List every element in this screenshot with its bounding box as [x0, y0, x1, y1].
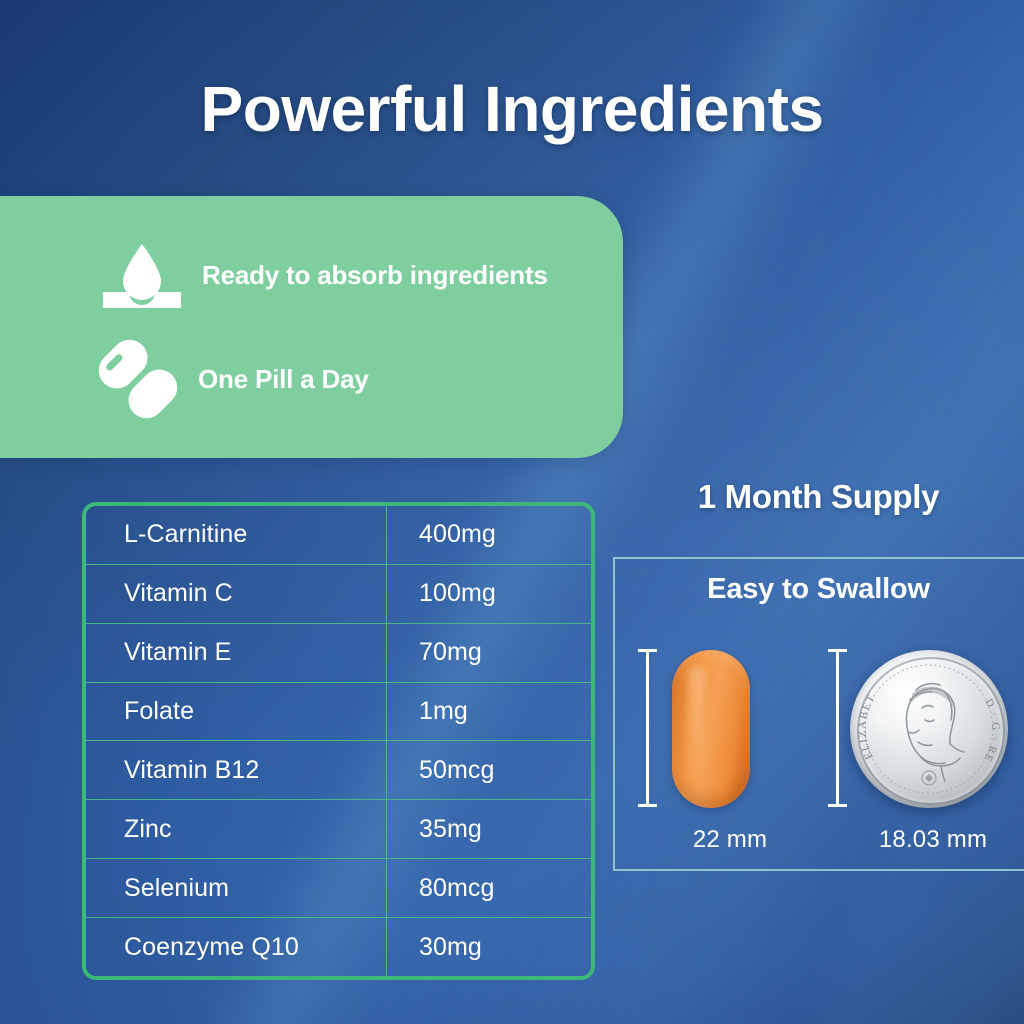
- ingredient-name: L-Carnitine: [86, 506, 387, 564]
- ingredient-amount: 400mg: [387, 506, 592, 564]
- coin-specimen: ELIZABETH II D · G · REGINA 18.03 mm: [820, 640, 1020, 870]
- ingredient-amount: 35mg: [387, 800, 592, 859]
- coin-engraving: ELIZABETH II D · G · REGINA: [850, 650, 1008, 808]
- ingredient-amount: 70mg: [387, 623, 592, 682]
- feature-item-ready-to-absorb: Ready to absorb ingredients: [96, 232, 548, 318]
- ingredient-name: Vitamin B12: [86, 741, 387, 800]
- feature-item-one-pill-a-day: One Pill a Day: [92, 336, 369, 422]
- coin-measurement-bracket: [828, 649, 846, 807]
- supply-duration-title: 1 Month Supply: [613, 478, 1024, 516]
- coin-legend-left: ELIZABETH II: [850, 650, 878, 761]
- table-row: Selenium80mcg: [86, 859, 591, 918]
- page-title: Powerful Ingredients: [0, 72, 1024, 146]
- canadian-dime-image: ELIZABETH II D · G · REGINA: [850, 650, 1008, 808]
- ingredient-name: Selenium: [86, 859, 387, 918]
- ingredient-amount: 1mg: [387, 682, 592, 741]
- coin-size-label: 18.03 mm: [828, 826, 1024, 854]
- ingredient-amount: 80mcg: [387, 859, 592, 918]
- ingredient-name: Vitamin E: [86, 623, 387, 682]
- table-row: Vitamin C100mg: [86, 564, 591, 623]
- capsule-pill-icon: [92, 336, 184, 422]
- easy-to-swallow-title: Easy to Swallow: [613, 573, 1024, 606]
- pill-size-label: 22 mm: [630, 826, 830, 854]
- table-row: L-Carnitine400mg: [86, 506, 591, 564]
- ingredient-amount: 100mg: [387, 564, 592, 623]
- table-row: Zinc35mg: [86, 800, 591, 859]
- infographic-root: Powerful Ingredients Ready to absorb ing…: [0, 0, 1024, 1024]
- ingredient-name: Vitamin C: [86, 564, 387, 623]
- pill-specimen: 22 mm: [630, 640, 830, 870]
- feature-card: Ready to absorb ingredients One Pill a D…: [0, 196, 623, 458]
- table-row: Folate1mg: [86, 682, 591, 741]
- table-row: Vitamin E70mg: [86, 623, 591, 682]
- table-row: Coenzyme Q1030mg: [86, 918, 591, 976]
- ingredients-table: L-Carnitine400mgVitamin C100mgVitamin E7…: [82, 502, 595, 980]
- svg-text:ELIZABETH II: ELIZABETH II: [850, 650, 878, 761]
- orange-tablet-image: [672, 650, 750, 808]
- ingredient-name: Zinc: [86, 800, 387, 859]
- feature-item-label: One Pill a Day: [198, 364, 369, 395]
- ingredient-amount: 30mg: [387, 918, 592, 976]
- feature-item-label: Ready to absorb ingredients: [202, 260, 548, 291]
- ingredient-name: Folate: [86, 682, 387, 741]
- table-row: Vitamin B1250mcg: [86, 741, 591, 800]
- pill-measurement-bracket: [638, 649, 656, 807]
- water-drop-absorb-icon: [96, 232, 188, 318]
- ingredient-name: Coenzyme Q10: [86, 918, 387, 976]
- ingredient-amount: 50mcg: [387, 741, 592, 800]
